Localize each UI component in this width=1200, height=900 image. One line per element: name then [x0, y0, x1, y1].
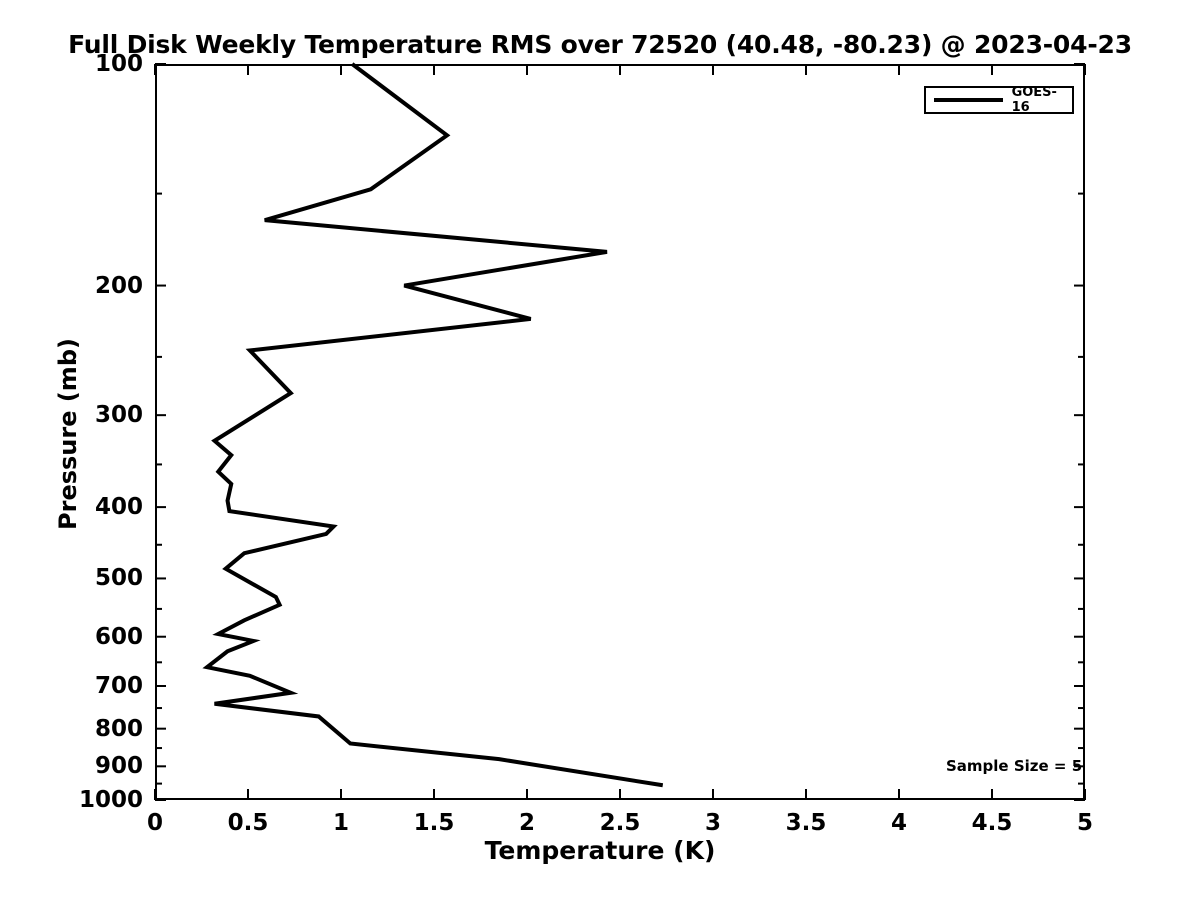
- x-tick-label: 0.5: [203, 810, 293, 836]
- x-tick-label: 5: [1040, 810, 1130, 836]
- chart-root: Full Disk Weekly Temperature RMS over 72…: [0, 0, 1200, 900]
- y-tick-label: 900: [23, 753, 143, 779]
- y-tick-label: 600: [23, 624, 143, 650]
- x-tick-label: 4.5: [947, 810, 1037, 836]
- x-tick-label: 1: [296, 810, 386, 836]
- legend-label-goes-16: GOES-16: [1012, 85, 1072, 115]
- y-tick-label: 500: [23, 565, 143, 591]
- y-tick-label: 100: [23, 51, 143, 77]
- legend[interactable]: GOES-16: [924, 86, 1074, 114]
- y-axis-title: Pressure (mb): [54, 304, 82, 564]
- legend-swatch-goes-16: [934, 98, 1003, 102]
- x-axis-title: Temperature (K): [0, 836, 1200, 865]
- y-tick-label: 700: [23, 673, 143, 699]
- chart-title: Full Disk Weekly Temperature RMS over 72…: [0, 30, 1200, 59]
- x-tick-label: 4: [854, 810, 944, 836]
- x-tick-label: 3: [668, 810, 758, 836]
- y-tick-label: 800: [23, 716, 143, 742]
- y-tick-label: 300: [23, 402, 143, 428]
- x-tick-label: 2.5: [575, 810, 665, 836]
- x-tick-label: 3.5: [761, 810, 851, 836]
- y-tick-label: 200: [23, 273, 143, 299]
- plot-area: [155, 64, 1085, 800]
- sample-size-annotation: Sample Size = 5: [946, 757, 1082, 775]
- x-tick-label: 0: [110, 810, 200, 836]
- x-tick-label: 2: [482, 810, 572, 836]
- y-tick-label: 400: [23, 494, 143, 520]
- x-tick-label: 1.5: [389, 810, 479, 836]
